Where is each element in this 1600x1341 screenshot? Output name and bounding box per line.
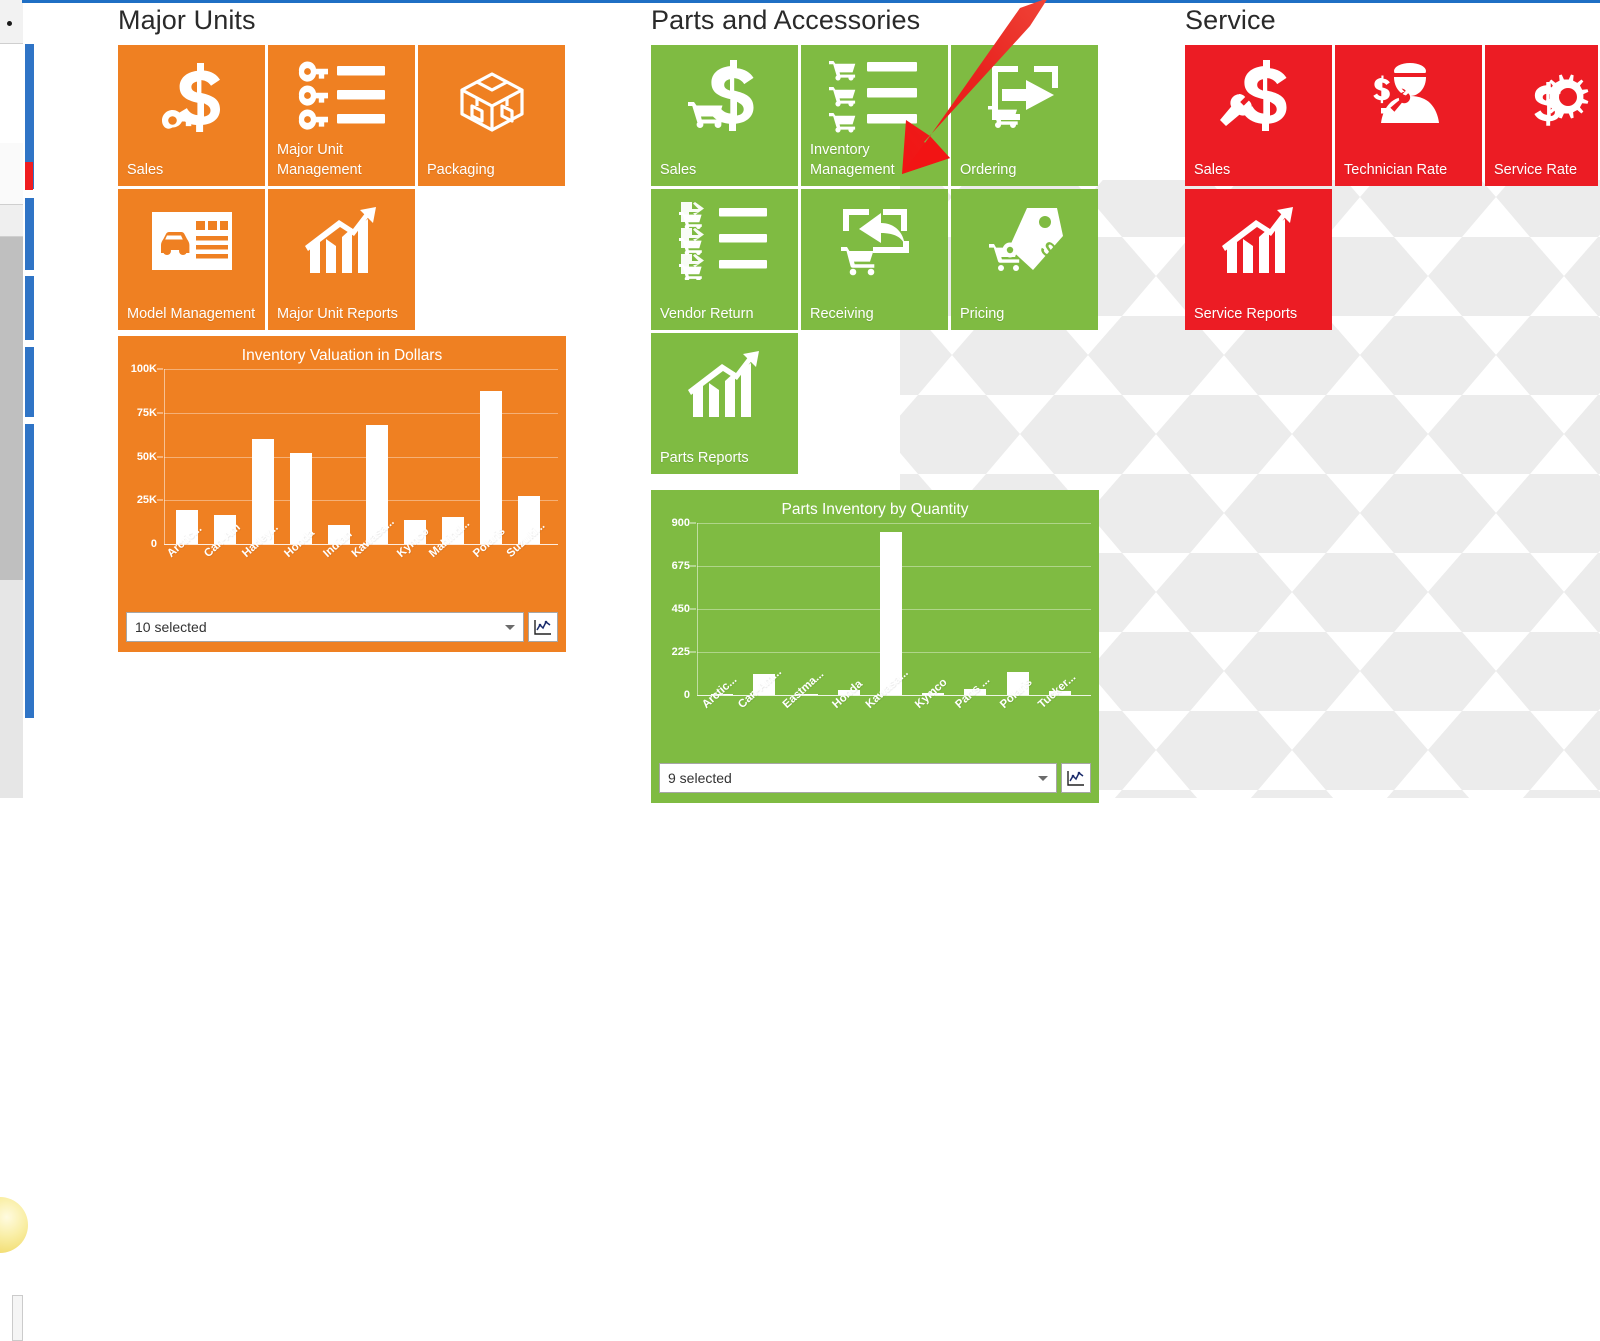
tile-parts-sales[interactable]: Sales — [651, 45, 798, 186]
tile-label: Sales — [660, 161, 794, 180]
chart-plot-area: 900 675 450 225 0 — [697, 523, 1085, 695]
tile-ordering[interactable]: Ordering — [951, 45, 1098, 186]
section-service: Service Sales — [1185, 0, 1600, 333]
dollar-cart-icon — [651, 57, 798, 137]
bar-chart-arrow-icon — [268, 201, 415, 281]
chart-x-label-cell: Kawasa... — [358, 544, 396, 606]
tile-label: Vendor Return — [660, 305, 794, 324]
cart-list-icon — [801, 57, 948, 137]
chevron-down-icon — [505, 625, 515, 630]
cart-receive-icon — [801, 201, 948, 281]
nav-alert-bar — [25, 162, 33, 190]
chart-bar — [480, 391, 502, 544]
chart-bar-cell — [472, 369, 510, 544]
chart-bar-cell — [997, 523, 1039, 695]
tile-major-packaging[interactable]: Packaging — [418, 45, 565, 186]
chart-bars — [697, 523, 1085, 695]
chart-y-tick: 100K — [131, 363, 157, 375]
dollar-wrench-icon — [1185, 57, 1332, 137]
dollar-key-icon — [118, 57, 265, 137]
chart-x-label-cell: Honda — [282, 544, 320, 606]
chart-bar-cell — [282, 369, 320, 544]
dropdown-value: 10 selected — [135, 619, 207, 635]
tile-label: Sales — [1194, 161, 1328, 180]
window-top-accent-rule — [22, 0, 1600, 3]
section-title-parts: Parts and Accessories — [651, 0, 1171, 45]
chart-inventory-valuation: Inventory Valuation in Dollars 100K 75K … — [118, 336, 566, 652]
chart-x-label-cell: Eastma... — [785, 695, 827, 757]
chart-title: Inventory Valuation in Dollars — [118, 336, 566, 369]
manufacturer-filter-dropdown[interactable]: 10 selected — [126, 612, 524, 642]
vehicle-card-icon — [118, 201, 265, 281]
chart-x-label-cell: Honda — [828, 695, 870, 757]
bar-chart-arrow-icon — [651, 345, 798, 425]
chart-bar-cell — [1039, 523, 1081, 695]
nav-accent-bar-3[interactable] — [25, 276, 34, 340]
dollar-gear-icon — [1485, 57, 1598, 137]
chart-x-label-cell: Arctic... — [168, 544, 206, 606]
chart-parts-inventory: Parts Inventory by Quantity 900 675 450 … — [651, 490, 1099, 803]
tile-row-service-1: Sales Technician Rate — [1185, 45, 1600, 186]
chart-x-label-cell: Polaris — [472, 544, 510, 606]
tile-row-parts-2: Vendor Return Receiving S — [651, 189, 1171, 330]
chrome-panel-bottom — [0, 580, 23, 798]
chart-y-tick: 0 — [684, 689, 690, 701]
tile-row-major-2: Model Management Major Unit Reports — [118, 189, 638, 330]
chart-bar-cell — [954, 523, 996, 695]
chart-bar-cell — [912, 523, 954, 695]
chart-x-label-cell: Polaris — [997, 695, 1039, 757]
tile-pricing[interactable]: S Pricing — [951, 189, 1098, 330]
bullet-dot-icon — [7, 21, 12, 26]
tile-row-parts-3: Parts Reports — [651, 333, 1171, 474]
status-orb-icon — [0, 1197, 28, 1253]
chart-bar-cell — [828, 523, 870, 695]
tile-model-management[interactable]: Model Management — [118, 189, 265, 330]
chart-x-label-cell: Can-Am — [206, 544, 244, 606]
chart-bar-cell — [870, 523, 912, 695]
tile-inventory-management[interactable]: Inventory Management — [801, 45, 948, 186]
chart-x-label-cell: Can-Am... — [743, 695, 785, 757]
key-list-icon — [268, 57, 415, 137]
nav-accent-bar-5[interactable] — [25, 424, 34, 718]
tile-row-service-2: Service Reports — [1185, 189, 1600, 330]
chart-plot-area: 100K 75K 50K 25K 0 — [164, 369, 552, 544]
open-box-icon — [418, 57, 565, 137]
chart-type-button[interactable] — [1061, 763, 1091, 793]
chart-x-label-cell: Harley... — [244, 544, 282, 606]
cart-return-list-icon — [651, 201, 798, 281]
tile-label: Inventory Management — [810, 141, 944, 180]
tile-label: Ordering — [960, 161, 1094, 180]
section-major-units: Major Units Sales — [118, 0, 638, 652]
chart-bar-cell — [785, 523, 827, 695]
tile-label: Sales — [127, 161, 261, 180]
chart-y-tick: 675 — [672, 560, 690, 572]
tile-service-reports[interactable]: Service Reports — [1185, 189, 1332, 330]
tile-major-sales[interactable]: Sales — [118, 45, 265, 186]
section-parts-and-accessories: Parts and Accessories Sales — [651, 0, 1171, 803]
tile-label: Major Unit Management — [277, 141, 411, 180]
chart-bar-cell — [396, 369, 434, 544]
tile-label: Service Rate — [1494, 161, 1594, 180]
chart-footer-controls: 10 selected — [118, 606, 566, 652]
chart-x-label-cell: Tucker... — [1039, 695, 1081, 757]
tile-label: Pricing — [960, 305, 1094, 324]
chart-x-label-cell: Mahind... — [434, 544, 472, 606]
section-title-major-units: Major Units — [118, 0, 638, 45]
chart-type-button[interactable] — [528, 612, 558, 642]
chart-bar-cell — [206, 369, 244, 544]
chart-x-label-cell: Parts ... — [954, 695, 996, 757]
nav-accent-bar-2[interactable] — [25, 198, 34, 270]
chart-footer-controls: 9 selected — [651, 757, 1099, 803]
chart-y-tick: 450 — [672, 603, 690, 615]
tile-label: Service Reports — [1194, 305, 1328, 324]
nav-accent-bar-4[interactable] — [25, 347, 34, 417]
line-chart-icon — [1067, 770, 1085, 786]
chart-title: Parts Inventory by Quantity — [651, 490, 1099, 523]
chart-x-label-cell: Suzuki... — [510, 544, 548, 606]
chrome-panel-grey — [0, 237, 23, 580]
chart-y-tick: 0 — [151, 538, 157, 550]
tile-row-major-1: Sales M — [118, 45, 638, 186]
line-chart-icon — [534, 619, 552, 635]
dropdown-value: 9 selected — [668, 770, 732, 786]
price-tag-cart-icon: S — [951, 201, 1098, 281]
tile-technician-rate[interactable]: Technician Rate — [1335, 45, 1482, 186]
cart-order-out-icon — [951, 57, 1098, 137]
scrollbar-thumb[interactable] — [12, 1295, 23, 1341]
tile-label: Model Management — [127, 305, 261, 324]
tile-row-parts-1: Sales I — [651, 45, 1171, 186]
tile-label: Major Unit Reports — [277, 305, 411, 324]
chrome-panel-collapse[interactable] — [0, 205, 23, 237]
technician-icon — [1335, 57, 1482, 137]
tile-label: Parts Reports — [660, 449, 794, 468]
chart-y-tick: 225 — [672, 646, 690, 658]
tile-service-rate[interactable]: Service Rate — [1485, 45, 1598, 186]
tile-service-sales[interactable]: Sales — [1185, 45, 1332, 186]
tile-vendor-return[interactable]: Vendor Return — [651, 189, 798, 330]
bar-chart-arrow-icon — [1185, 201, 1332, 281]
chart-y-tick: 75K — [137, 407, 157, 419]
chart-bar-cell — [320, 369, 358, 544]
chart-bar-cell — [434, 369, 472, 544]
chart-bar-cell — [701, 523, 743, 695]
tile-label: Technician Rate — [1344, 161, 1478, 180]
chart-bar-cell — [510, 369, 548, 544]
chart-bar-cell — [168, 369, 206, 544]
chart-y-tick: 900 — [672, 517, 690, 529]
tile-label: Receiving — [810, 305, 944, 324]
tile-receiving[interactable]: Receiving — [801, 189, 948, 330]
chart-x-label-cell: Arctic... — [701, 695, 743, 757]
chrome-panel-top — [0, 0, 23, 44]
chart-x-label-cell: Kawasa... — [870, 695, 912, 757]
chevron-down-icon — [1038, 776, 1048, 781]
chrome-panel-mid — [0, 143, 23, 205]
chart-x-labels: Arctic...Can-AmHarley...HondaIndianKawas… — [164, 544, 552, 606]
manufacturer-filter-dropdown[interactable]: 9 selected — [659, 763, 1057, 793]
tile-major-unit-management[interactable]: Major Unit Management — [268, 45, 415, 186]
chart-x-label-cell: Kymco — [912, 695, 954, 757]
chart-bars — [164, 369, 552, 544]
chart-y-tick: 50K — [137, 451, 157, 463]
section-title-service: Service — [1185, 0, 1600, 45]
chart-y-tick: 25K — [137, 494, 157, 506]
chart-bar-cell — [244, 369, 282, 544]
tile-label: Packaging — [427, 161, 561, 180]
tile-major-unit-reports[interactable]: Major Unit Reports — [268, 189, 415, 330]
tile-parts-reports[interactable]: Parts Reports — [651, 333, 798, 474]
chart-x-labels: Arctic...Can-Am...Eastma...HondaKawasa..… — [697, 695, 1085, 757]
